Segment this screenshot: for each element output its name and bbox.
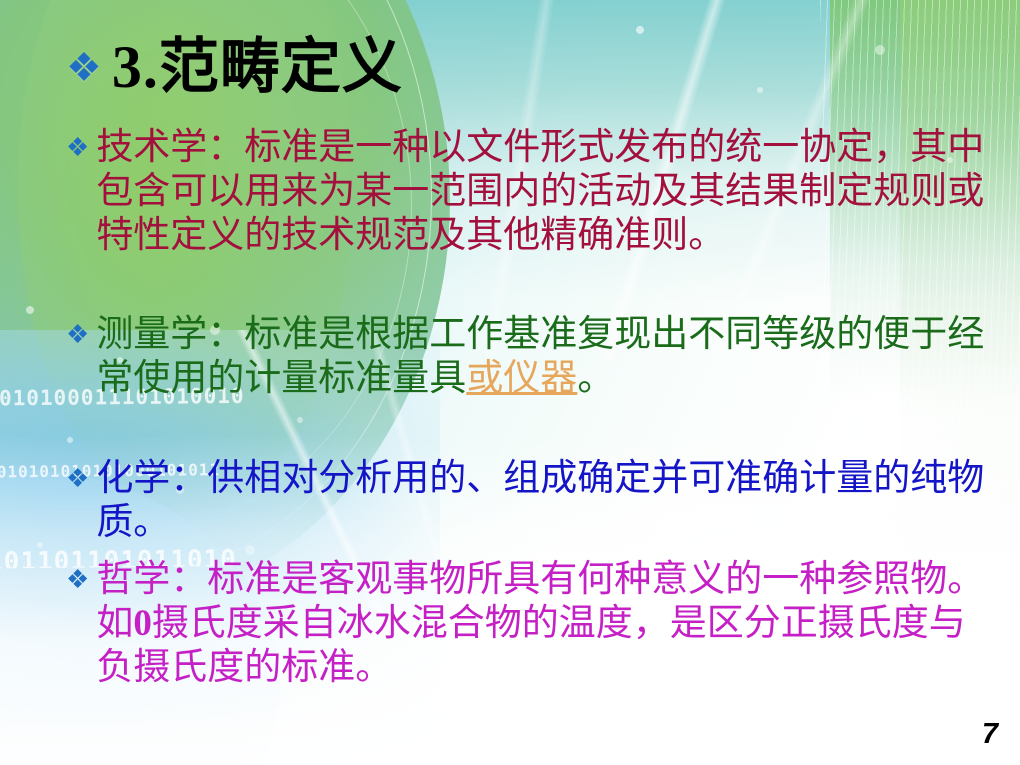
philosophy-text-part-2: 摄氏度采自冰水混合物的温度，是区分正摄氏度与负摄氏度的标准。 xyxy=(96,603,966,688)
presentation-slide: 1010100011101010010 10101010101010001010… xyxy=(0,0,1020,765)
bullet-paragraph-metrology: ❖ 测量学：标准是根据工作基准复现出不同等级的便于经常使用的计量标准量具或仪器。 xyxy=(66,313,996,401)
diamond-bullet-icon: ❖ xyxy=(66,126,89,165)
metrology-definition-text: 测量学：标准是根据工作基准复现出不同等级的便于经常使用的计量标准量具或仪器。 xyxy=(96,313,996,401)
bullet-paragraph-philosophy: ❖ 哲学：标准是客观事物所具有何种意义的一种参照物。如0摄氏度采自冰水混合物的温… xyxy=(66,558,996,690)
slide-content: ❖ 3.范畴定义 ❖ 技术学：标准是一种以文件形式发布的统一协定，其中包含可以用… xyxy=(0,0,1020,765)
diamond-bullet-icon: ❖ xyxy=(66,48,102,88)
diamond-bullet-icon: ❖ xyxy=(66,313,89,352)
page-title: 3.范畴定义 xyxy=(112,36,403,99)
technology-definition-text: 技术学：标准是一种以文件形式发布的统一协定，其中包含可以用来为某一范围内的活动及… xyxy=(96,126,996,258)
chemistry-definition-text: 化学：供相对分析用的、组成确定并可准确计量的纯物质。 xyxy=(96,457,996,545)
diamond-bullet-icon: ❖ xyxy=(66,558,89,597)
slide-title: ❖ 3.范畴定义 xyxy=(66,36,403,99)
diamond-bullet-icon: ❖ xyxy=(66,457,89,496)
bullet-paragraph-chemistry: ❖ 化学：供相对分析用的、组成确定并可准确计量的纯物质。 xyxy=(66,457,996,545)
philosophy-emphasis-zero: 0 xyxy=(133,603,152,644)
metrology-text-after-link: 。 xyxy=(577,358,614,399)
philosophy-definition-text: 哲学：标准是客观事物所具有何种意义的一种参照物。如0摄氏度采自冰水混合物的温度，… xyxy=(96,558,996,690)
metrology-hyperlink[interactable]: 或仪器 xyxy=(466,358,577,399)
page-number: 7 xyxy=(982,718,998,751)
bullet-paragraph-technology: ❖ 技术学：标准是一种以文件形式发布的统一协定，其中包含可以用来为某一范围内的活… xyxy=(66,126,996,258)
